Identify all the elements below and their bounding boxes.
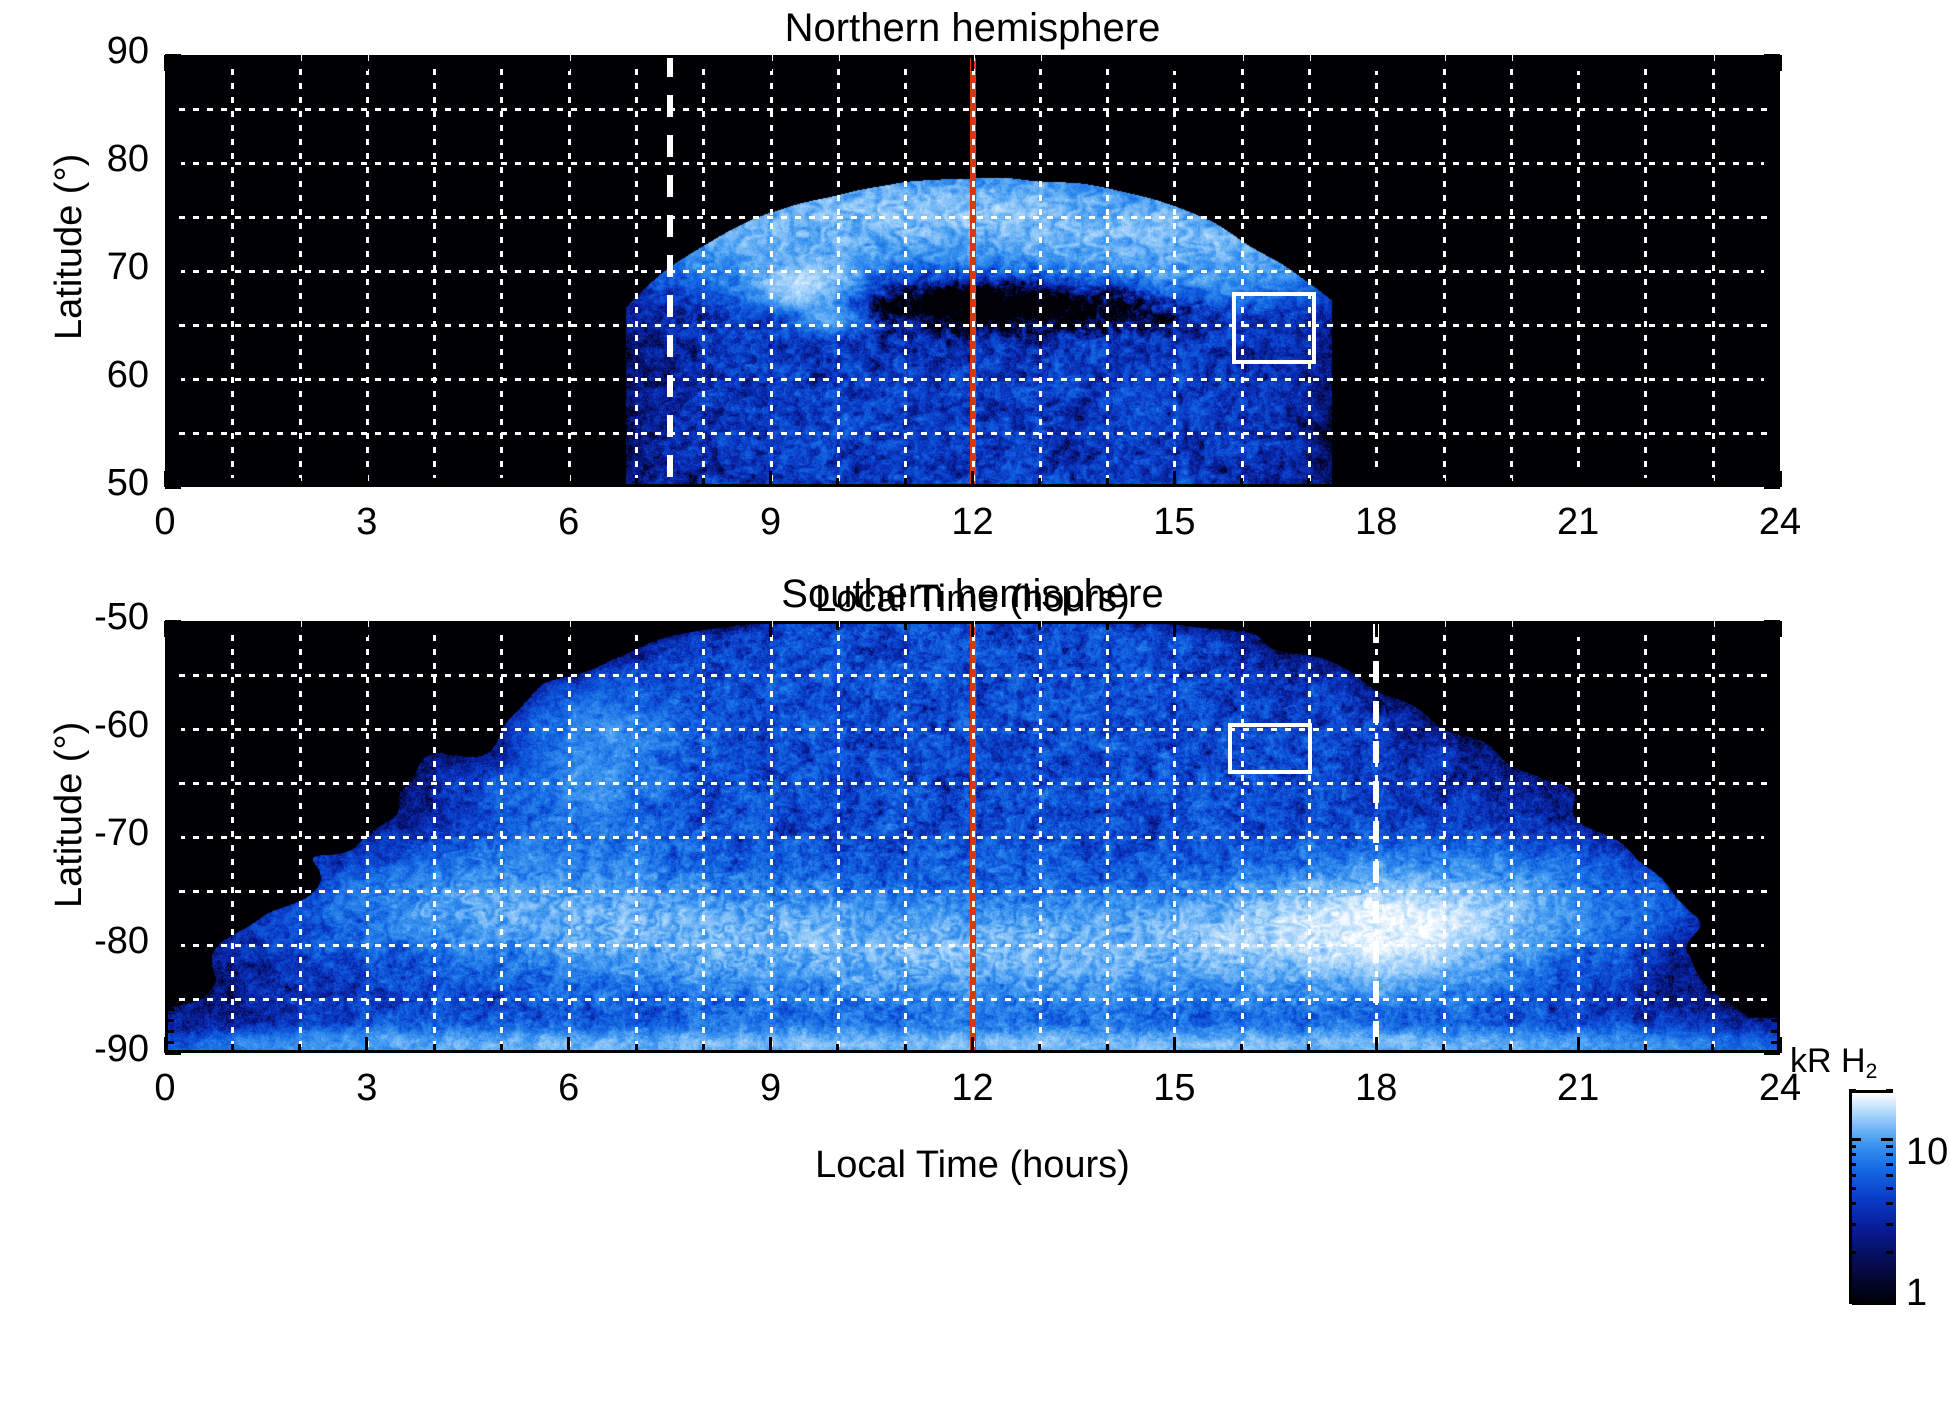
- y-tick: [165, 792, 174, 795]
- x-tick: [971, 1037, 974, 1053]
- x-tick-top: [1644, 621, 1647, 630]
- y-tick-right: [1764, 836, 1780, 839]
- y-tick: [165, 216, 174, 219]
- y-tick-right: [1771, 706, 1780, 709]
- y-tick-right: [1764, 54, 1780, 57]
- x-tick: [1038, 478, 1041, 487]
- colorbar-tick-mark: [1849, 1187, 1856, 1190]
- roi-box: [1232, 292, 1316, 364]
- x-tick-top: [1711, 55, 1714, 64]
- y-tick-right: [1771, 172, 1780, 175]
- colorbar-tick-mark: [1849, 1223, 1856, 1226]
- gridline-vertical: [1173, 621, 1176, 1053]
- y-tick: [165, 641, 174, 644]
- x-tick-top: [500, 621, 503, 630]
- colorbar-title-text: kR H: [1790, 1042, 1866, 1080]
- y-tick-right: [1771, 248, 1780, 251]
- y-tick-right: [1771, 792, 1780, 795]
- y-tick-right: [1764, 378, 1780, 381]
- y-tick-right: [1771, 475, 1780, 478]
- x-tick: [769, 1037, 772, 1053]
- x-tick: [1375, 1037, 1378, 1053]
- x-tick-top: [1779, 55, 1782, 71]
- y-tick: [165, 172, 174, 175]
- x-tick: [836, 478, 839, 487]
- colorbar-tick-mark-right: [1886, 1174, 1893, 1177]
- y-tick-label: 60: [9, 354, 149, 397]
- y-tick-right: [1771, 216, 1780, 219]
- y-tick-right: [1771, 911, 1780, 914]
- y-tick: [165, 162, 181, 165]
- y-tick-right: [1771, 291, 1780, 294]
- x-tick-top: [1240, 621, 1243, 630]
- y-tick: [165, 194, 174, 197]
- gridline-vertical: [904, 621, 907, 1053]
- x-tick: [1038, 1044, 1041, 1053]
- x-tick-top: [298, 55, 301, 64]
- x-tick-top: [702, 621, 705, 630]
- x-tick-top: [1173, 621, 1176, 637]
- y-tick: [165, 324, 174, 327]
- x-tick: [1106, 1044, 1109, 1053]
- x-tick: [971, 471, 974, 487]
- gridline-vertical: [972, 55, 975, 487]
- x-tick-top: [231, 55, 234, 64]
- x-tick-top: [1509, 55, 1512, 64]
- y-tick-right: [1771, 879, 1780, 882]
- y-tick: [165, 900, 174, 903]
- gridline-vertical: [702, 621, 705, 1053]
- gridline-vertical: [433, 55, 436, 487]
- y-tick: [165, 291, 174, 294]
- x-tick: [1577, 471, 1580, 487]
- x-tick: [365, 471, 368, 487]
- y-tick: [165, 302, 174, 305]
- y-tick: [165, 205, 174, 208]
- colorbar-tick-mark: [1849, 1163, 1856, 1166]
- y-tick-right: [1771, 976, 1780, 979]
- y-tick: [165, 86, 174, 89]
- x-tick-label: 3: [317, 501, 417, 544]
- x-tick: [433, 478, 436, 487]
- x-tick-label: 21: [1528, 501, 1628, 544]
- y-tick: [165, 846, 174, 849]
- colorbar-title: kR H2: [1790, 1042, 1877, 1084]
- gridline-vertical: [231, 621, 234, 1053]
- colorbar-tick-mark-right: [1886, 1145, 1893, 1148]
- y-tick-right: [1771, 663, 1780, 666]
- x-tick: [1509, 478, 1512, 487]
- y-tick-right: [1764, 620, 1780, 623]
- y-tick-right: [1771, 313, 1780, 316]
- x-tick: [1577, 1037, 1580, 1053]
- y-tick: [165, 782, 174, 785]
- x-tick-top: [702, 55, 705, 64]
- x-tick-label: 12: [923, 501, 1023, 544]
- y-tick: [165, 475, 174, 478]
- x-tick: [1240, 478, 1243, 487]
- y-tick: [165, 378, 181, 381]
- colorbar-tick-mark-right: [1886, 1089, 1893, 1092]
- y-tick: [165, 399, 174, 402]
- y-tick: [165, 464, 174, 467]
- x-tick-label: 9: [721, 501, 821, 544]
- colorbar-tick-mark: [1849, 1089, 1856, 1092]
- gridline-vertical: [1039, 621, 1042, 1053]
- southern-panel-title: Southern hemisphere: [165, 572, 1780, 617]
- x-tick: [500, 478, 503, 487]
- gridline-vertical: [500, 621, 503, 1053]
- y-tick: [165, 1041, 174, 1044]
- y-tick: [165, 1008, 174, 1011]
- x-tick-top: [1307, 621, 1310, 630]
- x-tick-top: [1038, 621, 1041, 630]
- x-tick-top: [500, 55, 503, 64]
- y-tick-right: [1771, 782, 1780, 785]
- y-tick: [165, 270, 181, 273]
- x-tick-label: 3: [317, 1067, 417, 1110]
- y-tick: [165, 1030, 174, 1033]
- gridline-vertical: [1644, 55, 1647, 487]
- y-tick-right: [1771, 1041, 1780, 1044]
- x-tick-top: [567, 55, 570, 71]
- y-tick-right: [1771, 86, 1780, 89]
- northern-panel-title: Northern hemisphere: [165, 6, 1780, 51]
- x-tick-top: [769, 55, 772, 71]
- y-tick-right: [1771, 954, 1780, 957]
- x-tick-top: [1779, 621, 1782, 637]
- gridline-vertical: [1577, 621, 1580, 1053]
- y-tick-right: [1764, 944, 1780, 947]
- y-tick-right: [1771, 75, 1780, 78]
- colorbar-tick-mark: [1849, 1153, 1856, 1156]
- y-tick-right: [1771, 453, 1780, 456]
- y-tick-right: [1771, 922, 1780, 925]
- y-tick-right: [1771, 684, 1780, 687]
- x-tick-top: [971, 55, 974, 71]
- colorbar-tick-mark: [1849, 1251, 1856, 1254]
- y-tick: [165, 75, 174, 78]
- x-tick: [1375, 471, 1378, 487]
- x-tick-top: [971, 621, 974, 637]
- y-tick: [165, 140, 174, 143]
- southern-x-axis-label: Local Time (hours): [165, 1144, 1780, 1187]
- x-tick: [1644, 1044, 1647, 1053]
- gridline-vertical: [1039, 55, 1042, 487]
- gridline-vertical: [1375, 55, 1378, 487]
- y-tick: [165, 749, 174, 752]
- gridline-vertical: [1173, 55, 1176, 487]
- x-tick-top: [298, 621, 301, 630]
- y-tick: [165, 486, 181, 489]
- x-tick: [231, 1044, 234, 1053]
- x-tick-top: [1509, 621, 1512, 630]
- x-tick: [298, 1044, 301, 1053]
- x-tick-top: [635, 55, 638, 64]
- y-tick-label: -80: [9, 920, 149, 963]
- x-tick-top: [365, 621, 368, 637]
- x-tick: [298, 478, 301, 487]
- y-tick: [165, 825, 174, 828]
- colorbar-title-subscript: 2: [1866, 1060, 1878, 1083]
- y-tick: [165, 738, 174, 741]
- x-tick-top: [836, 621, 839, 630]
- y-tick-right: [1771, 410, 1780, 413]
- x-tick-top: [567, 621, 570, 637]
- x-tick: [567, 1037, 570, 1053]
- gridline-vertical: [568, 621, 571, 1053]
- x-tick: [635, 478, 638, 487]
- northern-y-axis-label: Latitude (°): [48, 154, 91, 340]
- gridline-vertical: [1712, 55, 1715, 487]
- x-tick-top: [433, 621, 436, 630]
- y-tick-right: [1764, 728, 1780, 731]
- x-tick: [1240, 1044, 1243, 1053]
- y-tick: [165, 879, 174, 882]
- gridline-vertical: [568, 55, 571, 487]
- y-tick: [165, 933, 174, 936]
- y-tick: [165, 280, 174, 283]
- y-tick: [165, 857, 174, 860]
- gridline-vertical: [1106, 621, 1109, 1053]
- x-tick: [904, 478, 907, 487]
- y-tick: [165, 367, 174, 370]
- x-tick: [567, 471, 570, 487]
- y-tick: [165, 674, 174, 677]
- gridline-vertical: [1308, 55, 1311, 487]
- x-tick: [1711, 478, 1714, 487]
- y-tick: [165, 760, 174, 763]
- y-tick: [165, 453, 174, 456]
- y-tick-right: [1771, 183, 1780, 186]
- y-tick-right: [1771, 464, 1780, 467]
- y-tick-right: [1771, 97, 1780, 100]
- x-tick: [1173, 471, 1176, 487]
- y-tick-right: [1771, 205, 1780, 208]
- y-tick-right: [1771, 118, 1780, 121]
- gridline-vertical: [972, 621, 975, 1053]
- x-tick-top: [1307, 55, 1310, 64]
- gridline-vertical: [1375, 621, 1378, 1053]
- y-tick-right: [1771, 421, 1780, 424]
- y-tick: [165, 706, 174, 709]
- y-tick: [165, 1019, 174, 1022]
- y-tick-label: -90: [9, 1028, 149, 1071]
- gridline-vertical: [635, 621, 638, 1053]
- colorbar-tick-mark: [1849, 1174, 1856, 1177]
- gridline-vertical: [1241, 621, 1244, 1053]
- y-tick-right: [1771, 717, 1780, 720]
- x-tick-top: [164, 55, 167, 71]
- y-tick-right: [1771, 825, 1780, 828]
- gridline-vertical: [299, 621, 302, 1053]
- y-tick: [165, 421, 174, 424]
- y-tick: [165, 814, 174, 817]
- x-tick-label: 15: [1124, 1067, 1224, 1110]
- x-tick-top: [1375, 55, 1378, 71]
- y-tick: [165, 922, 174, 925]
- y-tick: [165, 97, 174, 100]
- x-tick-label: 0: [115, 501, 215, 544]
- y-tick-right: [1771, 890, 1780, 893]
- x-tick-top: [1240, 55, 1243, 64]
- y-tick-right: [1771, 1019, 1780, 1022]
- x-tick-top: [433, 55, 436, 64]
- x-tick: [500, 1044, 503, 1053]
- x-tick-top: [836, 55, 839, 64]
- y-tick: [165, 226, 174, 229]
- x-tick: [1442, 478, 1445, 487]
- y-tick-right: [1771, 367, 1780, 370]
- gridline-vertical: [366, 621, 369, 1053]
- y-tick: [165, 356, 174, 359]
- x-tick: [702, 478, 705, 487]
- gridline-vertical: [1577, 55, 1580, 487]
- y-tick: [165, 944, 181, 947]
- y-tick-right: [1771, 442, 1780, 445]
- y-tick-right: [1771, 432, 1780, 435]
- x-tick: [1173, 1037, 1176, 1053]
- x-tick-top: [1038, 55, 1041, 64]
- y-tick-right: [1771, 108, 1780, 111]
- y-tick-right: [1771, 140, 1780, 143]
- y-tick: [165, 151, 174, 154]
- x-tick: [365, 1037, 368, 1053]
- colorbar-tick-mark-right: [1886, 1223, 1893, 1226]
- y-tick: [165, 259, 174, 262]
- y-tick-right: [1771, 194, 1780, 197]
- y-tick: [165, 442, 174, 445]
- y-tick-right: [1771, 237, 1780, 240]
- southern-y-axis-label: Latitude (°): [48, 722, 91, 908]
- y-tick: [165, 890, 174, 893]
- y-tick-right: [1771, 987, 1780, 990]
- y-tick: [165, 620, 181, 623]
- y-tick-right: [1771, 771, 1780, 774]
- x-tick-top: [231, 621, 234, 630]
- x-tick: [702, 1044, 705, 1053]
- y-tick-right: [1771, 334, 1780, 337]
- x-tick: [1644, 478, 1647, 487]
- y-tick: [165, 954, 174, 957]
- gridline-vertical: [1510, 55, 1513, 487]
- gridline-vertical: [635, 55, 638, 487]
- colorbar-tick-mark-right: [1886, 1251, 1893, 1254]
- x-tick-top: [1375, 621, 1378, 637]
- y-tick-right: [1771, 64, 1780, 67]
- colorbar-tick-1: 1: [1906, 1272, 1927, 1315]
- x-tick-label: 6: [519, 501, 619, 544]
- y-tick: [165, 965, 174, 968]
- colorbar-tick-mark-right: [1886, 1163, 1893, 1166]
- x-tick-top: [1106, 621, 1109, 630]
- colorbar-tick-mark: [1849, 1138, 1861, 1141]
- y-tick-right: [1764, 162, 1780, 165]
- y-tick-right: [1771, 388, 1780, 391]
- y-tick-right: [1771, 803, 1780, 806]
- y-tick: [165, 630, 174, 633]
- x-tick-top: [1442, 621, 1445, 630]
- y-tick: [165, 432, 174, 435]
- y-tick: [165, 652, 174, 655]
- y-tick-right: [1771, 356, 1780, 359]
- x-tick: [231, 478, 234, 487]
- y-tick: [165, 313, 174, 316]
- x-tick: [836, 1044, 839, 1053]
- y-tick: [165, 771, 174, 774]
- y-tick: [165, 976, 174, 979]
- y-tick: [165, 803, 174, 806]
- gridline-vertical: [1644, 621, 1647, 1053]
- x-tick: [1711, 1044, 1714, 1053]
- colorbar-tick-mark: [1849, 1202, 1856, 1205]
- colorbar-tick-mark-right: [1886, 1153, 1893, 1156]
- y-tick: [165, 987, 174, 990]
- y-tick-label: 90: [9, 30, 149, 73]
- y-tick: [165, 695, 174, 698]
- y-tick: [165, 183, 174, 186]
- y-tick-right: [1771, 868, 1780, 871]
- gridline-vertical: [366, 55, 369, 487]
- y-tick: [165, 345, 174, 348]
- y-tick-right: [1771, 900, 1780, 903]
- y-tick-right: [1771, 302, 1780, 305]
- y-tick-right: [1771, 998, 1780, 1001]
- gridline-vertical: [837, 55, 840, 487]
- y-tick: [165, 64, 174, 67]
- y-tick: [165, 684, 174, 687]
- gridline-vertical: [1308, 621, 1311, 1053]
- y-tick-right: [1771, 965, 1780, 968]
- x-tick-top: [1644, 55, 1647, 64]
- y-tick: [165, 118, 174, 121]
- gridline-vertical: [837, 621, 840, 1053]
- x-tick-label: 15: [1124, 501, 1224, 544]
- y-tick-right: [1771, 857, 1780, 860]
- x-tick-label: 18: [1326, 1067, 1426, 1110]
- y-tick: [165, 717, 174, 720]
- x-tick-top: [164, 621, 167, 637]
- x-tick-top: [904, 55, 907, 64]
- y-tick-right: [1771, 280, 1780, 283]
- y-tick-right: [1771, 226, 1780, 229]
- y-tick-right: [1771, 1008, 1780, 1011]
- y-tick-right: [1771, 1030, 1780, 1033]
- y-tick-right: [1764, 270, 1780, 273]
- y-tick-right: [1771, 674, 1780, 677]
- y-tick: [165, 410, 174, 413]
- y-tick: [165, 868, 174, 871]
- colorbar-tick-mark-right: [1881, 1138, 1893, 1141]
- x-tick-top: [1711, 621, 1714, 630]
- x-tick: [769, 471, 772, 487]
- y-tick: [165, 663, 174, 666]
- x-tick-top: [365, 55, 368, 71]
- x-tick-top: [769, 621, 772, 637]
- y-tick-right: [1771, 641, 1780, 644]
- colorbar-tick-mark-right: [1886, 1202, 1893, 1205]
- x-tick-label: 21: [1528, 1067, 1628, 1110]
- y-tick: [165, 108, 174, 111]
- x-tick: [904, 1044, 907, 1053]
- y-tick-right: [1771, 846, 1780, 849]
- gridline-vertical: [1443, 621, 1446, 1053]
- y-tick-right: [1771, 738, 1780, 741]
- x-tick-top: [904, 621, 907, 630]
- y-tick-right: [1771, 129, 1780, 132]
- y-tick: [165, 54, 181, 57]
- x-tick-top: [1173, 55, 1176, 71]
